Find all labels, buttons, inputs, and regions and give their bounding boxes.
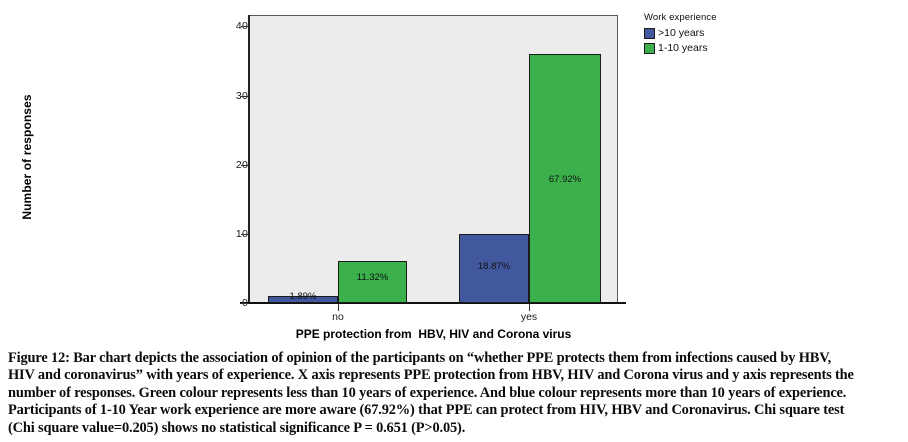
legend-swatch-blue-icon <box>644 28 655 39</box>
caption-line-1: Figure 12: Bar chart depicts the associa… <box>8 350 900 367</box>
y-axis-title: Number of responses <box>20 77 34 237</box>
legend-title: Work experience <box>644 12 764 23</box>
y-tick-mark-10 <box>241 234 248 235</box>
bar-label-yes-gt10years: 18.87% <box>459 261 529 272</box>
y-tick-mark-20 <box>241 165 248 166</box>
y-tick-mark-0 <box>241 303 248 304</box>
x-axis-title: PPE protection from HBV, HIV and Corona … <box>249 327 618 341</box>
x-tick-mark-no <box>338 304 339 311</box>
caption-line-5: (Chi square value=0.205) shows no statis… <box>8 420 900 437</box>
bar-chart-figure: 0 10 20 30 40 Number of responses 1.89% … <box>0 0 908 348</box>
legend: Work experience >10 years 1-10 years <box>644 12 764 56</box>
x-tick-label-no: no <box>298 311 378 323</box>
legend-swatch-green-icon <box>644 43 655 54</box>
legend-item-1to10years: 1-10 years <box>644 41 764 55</box>
caption-line-3: number of responses. Green colour repres… <box>8 385 900 402</box>
caption-line-4: Participants of 1-10 Year work experienc… <box>8 402 900 419</box>
y-tick-mark-40 <box>241 26 248 27</box>
x-tick-mark-yes <box>529 304 530 311</box>
figure-page: 0 10 20 30 40 Number of responses 1.89% … <box>0 0 908 442</box>
caption-line-2: HIV and coronavirus” with years of exper… <box>8 367 900 384</box>
bar-label-no-1to10years: 11.32% <box>338 272 407 283</box>
y-axis-line <box>248 15 250 304</box>
bar-label-no-gt10years: 1.89% <box>268 291 338 302</box>
legend-label-1to10years: 1-10 years <box>658 42 708 54</box>
y-tick-mark-30 <box>241 96 248 97</box>
x-tick-label-yes: yes <box>489 311 569 323</box>
bar-label-yes-1to10years: 67.92% <box>529 174 601 185</box>
legend-item-gt10years: >10 years <box>644 26 764 40</box>
legend-label-gt10years: >10 years <box>658 27 704 39</box>
figure-caption: Figure 12: Bar chart depicts the associa… <box>8 350 900 437</box>
